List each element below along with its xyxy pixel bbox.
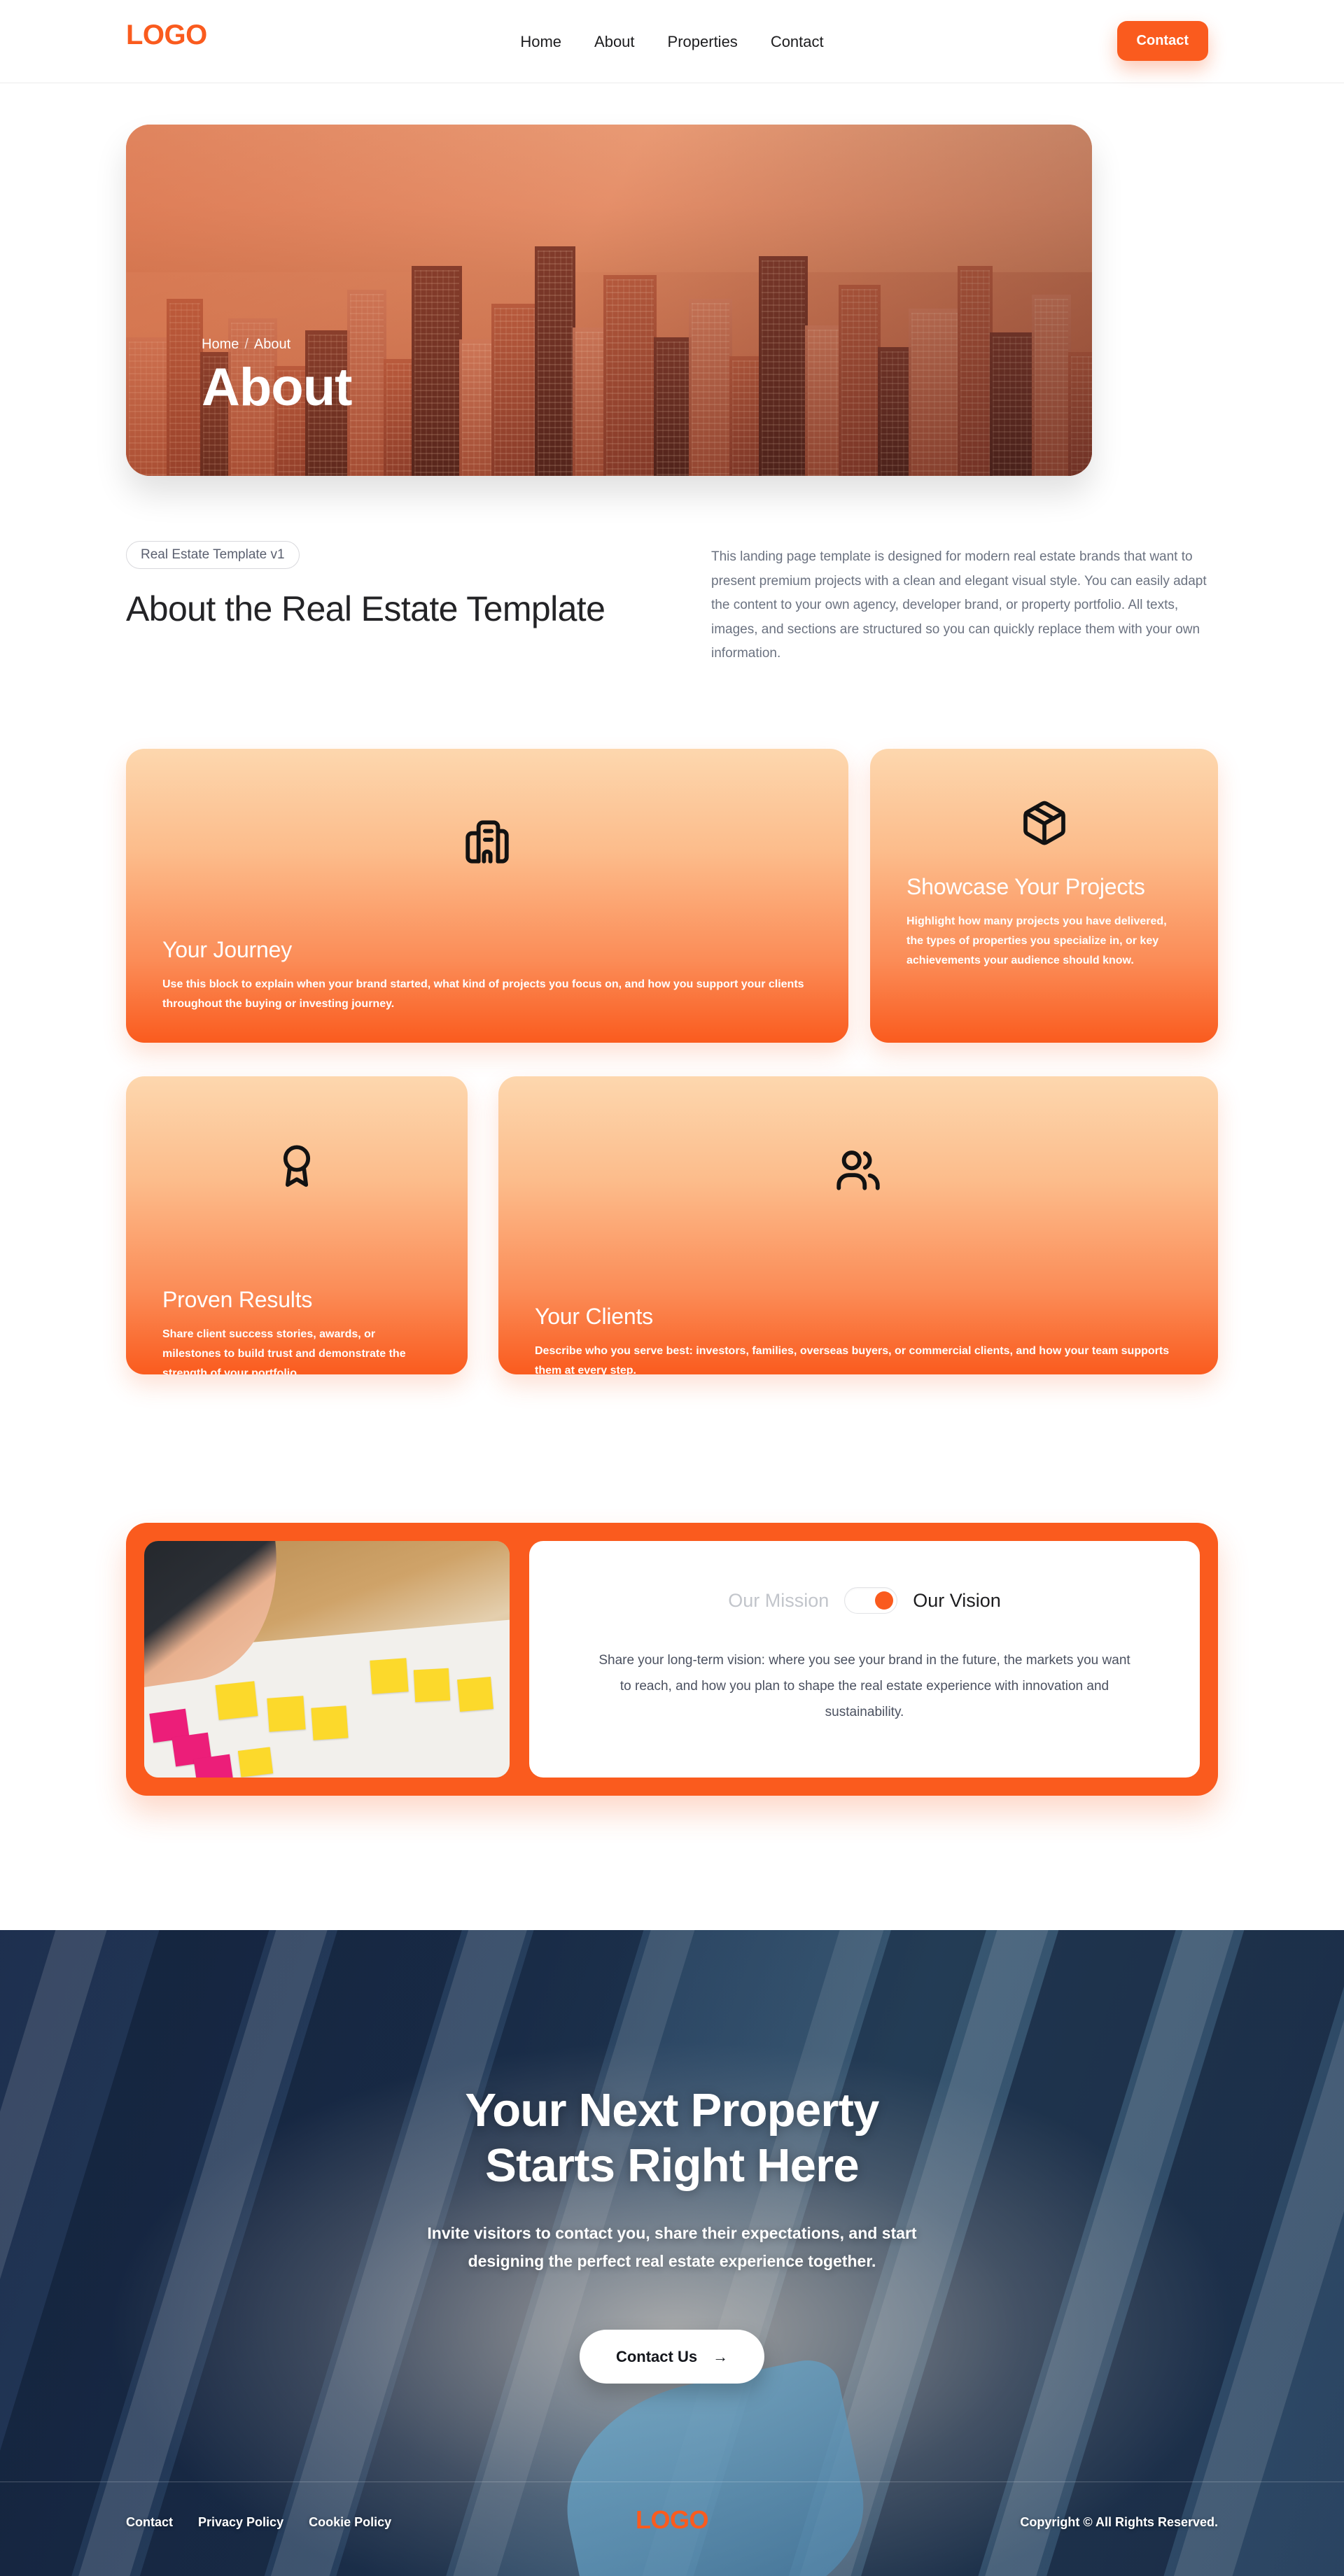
mission-vision-tabs: Our Mission Our Vision: [728, 1587, 1001, 1614]
about-page: LOGO Home About Properties Contact Conta…: [0, 0, 1344, 2576]
contact-us-label: Contact Us: [616, 2348, 697, 2366]
toggle-knob: [875, 1591, 893, 1610]
mission-vision-panel: Our Mission Our Vision Share your long-t…: [529, 1541, 1200, 1778]
breadcrumb-home[interactable]: Home: [202, 337, 239, 352]
mission-vision-body: Share your long-term vision: where you s…: [591, 1647, 1137, 1725]
footer-divider: [0, 2482, 1344, 2482]
intro-section: Real Estate Template v1 About the Real E…: [126, 541, 1218, 631]
breadcrumb-separator: /: [244, 337, 248, 352]
feature-card-your-journey[interactable]: Your Journey Use this block to explain w…: [126, 749, 848, 1043]
card-title: Showcase Your Projects: [906, 873, 1182, 901]
nav-item-home[interactable]: Home: [520, 33, 561, 51]
feature-card-proven-results[interactable]: Proven Results Share client success stor…: [126, 1076, 468, 1374]
intro-paragraph: This landing page template is designed f…: [711, 545, 1222, 666]
footer-copyright: Copyright © All Rights Reserved.: [1020, 2515, 1218, 2530]
header-contact-button[interactable]: Contact: [1117, 21, 1208, 61]
nav-item-about[interactable]: About: [594, 33, 635, 51]
cta-heading-line2: Starts Right Here: [485, 2139, 859, 2192]
mission-vision-photo-workshop: [144, 1541, 510, 1778]
hero-overlay-tint: [126, 125, 1092, 476]
hero-text-block: Home/About About: [202, 337, 351, 416]
card-description: Describe who you serve best: investors, …: [535, 1342, 1182, 1374]
nav-item-contact[interactable]: Contact: [771, 33, 824, 51]
feature-card-showcase-your-projects[interactable]: Showcase Your Projects Highlight how man…: [870, 749, 1218, 1043]
card-description: Share client success stories, awards, or…: [162, 1325, 431, 1374]
card-description: Use this block to explain when your bran…: [162, 975, 812, 1014]
card-title: Your Journey: [162, 936, 812, 964]
contact-us-button[interactable]: Contact Us →: [580, 2330, 764, 2384]
footer-link-cookie-policy[interactable]: Cookie Policy: [309, 2515, 391, 2530]
card-text-block: Your Clients Describe who you serve best…: [535, 1303, 1182, 1374]
box-icon: [870, 798, 1218, 848]
card-text-block: Showcase Your Projects Highlight how man…: [906, 873, 1182, 971]
hero-banner: Home/About About: [126, 125, 1092, 476]
nav-item-properties[interactable]: Properties: [668, 33, 738, 51]
cta-section: Your Next Property Starts Right Here Inv…: [0, 1930, 1344, 2576]
card-title: Proven Results: [162, 1286, 431, 1314]
feature-card-your-clients[interactable]: Your Clients Describe who you serve best…: [498, 1076, 1218, 1374]
building-icon: [126, 816, 848, 868]
card-title: Your Clients: [535, 1303, 1182, 1330]
intro-heading: About the Real Estate Template: [126, 587, 616, 631]
card-text-block: Your Journey Use this block to explain w…: [162, 936, 812, 1014]
award-icon: [126, 1141, 468, 1191]
page-title: About: [202, 360, 351, 416]
template-version-badge: Real Estate Template v1: [126, 541, 300, 569]
footer-link-privacy-policy[interactable]: Privacy Policy: [198, 2515, 283, 2530]
mission-vision-section: Our Mission Our Vision Share your long-t…: [126, 1523, 1218, 1796]
breadcrumb: Home/About: [202, 337, 351, 353]
cta-heading-line1: Your Next Property: [465, 2084, 878, 2137]
mission-vision-toggle[interactable]: [844, 1587, 897, 1614]
breadcrumb-current: About: [254, 337, 290, 352]
card-text-block: Proven Results Share client success stor…: [162, 1286, 431, 1374]
users-icon: [498, 1145, 1218, 1197]
cta-paragraph: Invite visitors to contact you, share th…: [392, 2220, 952, 2275]
tab-our-vision[interactable]: Our Vision: [913, 1590, 1001, 1612]
footer-link-contact[interactable]: Contact: [126, 2515, 173, 2530]
cta-heading: Your Next Property Starts Right Here: [0, 2083, 1344, 2193]
footer-logo[interactable]: LOGO: [636, 2505, 708, 2535]
tab-our-mission[interactable]: Our Mission: [728, 1590, 829, 1612]
footer-links: Contact Privacy Policy Cookie Policy: [126, 2515, 391, 2530]
hero-image-city-skyline: [126, 125, 1092, 476]
site-header: LOGO Home About Properties Contact Conta…: [0, 0, 1344, 83]
arrow-right-icon: →: [713, 2348, 728, 2366]
card-description: Highlight how many projects you have del…: [906, 912, 1182, 971]
site-footer: Contact Privacy Policy Cookie Policy LOG…: [0, 2515, 1344, 2571]
